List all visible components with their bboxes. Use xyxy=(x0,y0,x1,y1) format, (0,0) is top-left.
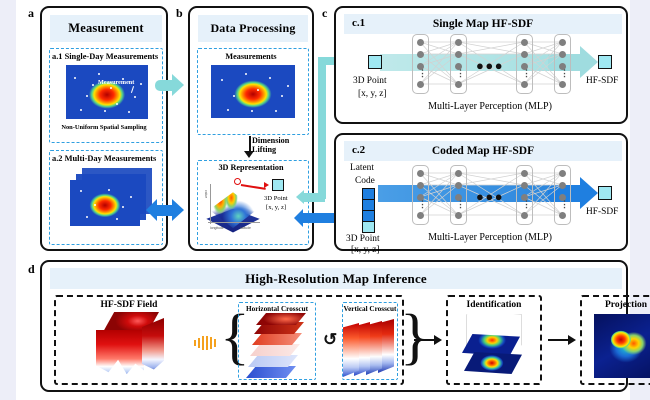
measurement-annotation: Measurement xyxy=(98,79,134,86)
measurements-heatmap xyxy=(211,65,295,118)
panel-b-measurements-caption: Measurements xyxy=(190,52,312,61)
c2-input-label-1: 3D Point xyxy=(346,234,380,244)
panel-letter-b: b xyxy=(176,6,183,21)
identification-caption: Identification xyxy=(446,300,542,310)
3d-point-label-1: 3D Point xyxy=(264,195,288,202)
panel-c2-tag: c.2 xyxy=(352,144,365,156)
c2-output-label: HF-SDF xyxy=(586,207,618,217)
c1-network-label: Multi-Layer Perception (MLP) xyxy=(400,101,580,112)
c2-input-label-2: [x, y, z] xyxy=(351,245,380,255)
dimension-lifting-label: Dimension Lifting xyxy=(252,136,312,154)
vertical-crosscut-caption: Vertical Crosscut xyxy=(338,305,402,313)
c1-input-label-2: [x, y, z] xyxy=(358,89,387,99)
panel-b-3d-caption: 3D Representation xyxy=(190,163,312,172)
swap-icon: ↺ xyxy=(323,330,337,350)
c2-latent-label-1: Latent xyxy=(350,163,374,173)
c1-output-label: HF-SDF xyxy=(586,76,618,86)
c2-input-square xyxy=(362,221,375,233)
c1-mlp: ⋮ ⋮ ⋮ ⋮ ●●● xyxy=(406,34,576,96)
hf-sdf-field-cube xyxy=(96,312,166,378)
c2-network-label: Multi-Layer Perception (MLP) xyxy=(400,232,580,243)
panel-a2-title: a.2 Multi-Day Measurements xyxy=(52,154,156,163)
resolution-comb-icon xyxy=(194,335,216,351)
panel-c1-tag: c.1 xyxy=(352,17,365,29)
c1-input-square xyxy=(368,55,382,69)
single-day-heatmap: Measurement xyxy=(66,65,148,119)
panel-a1-caption: Non-Uniform Spatial Sampling xyxy=(42,124,166,131)
panel-a1-title: a.1 Single-Day Measurements xyxy=(52,52,158,61)
panel-d: High-Resolution Map Inference HF-SDF Fie… xyxy=(40,260,628,392)
3d-point-square xyxy=(272,179,284,191)
horizontal-crosscut-stack xyxy=(246,316,308,374)
panel-d-title: High-Resolution Map Inference xyxy=(50,268,622,289)
vertical-crosscut-stack xyxy=(344,316,398,374)
panel-b-title: Data Processing xyxy=(198,15,308,42)
3d-point-label-2: [x, y, z] xyxy=(266,204,286,211)
c2-output-square xyxy=(598,186,612,200)
c1-input-label-1: 3D Point xyxy=(353,76,387,86)
panel-letter-d: d xyxy=(28,262,35,277)
projection-heatmap xyxy=(594,314,650,378)
identification-3d-sheets xyxy=(458,314,532,378)
c1-layer-dots: ●●● xyxy=(476,58,504,74)
c2-mlp: ⋮ ⋮ ⋮ ⋮ ●●● xyxy=(406,165,576,227)
right-brace-icon: } xyxy=(400,306,430,368)
panel-c2: c.2 Coded Map HF-SDF Latent Code 3D Poin… xyxy=(334,133,628,251)
c2-layer-dots: ●●● xyxy=(476,189,504,205)
panel-c1-title: Single Map HF-SDF xyxy=(344,16,622,32)
panel-c2-title: Coded Map HF-SDF xyxy=(344,143,622,159)
c1-output-square xyxy=(598,55,612,69)
c2-latent-label-2: Code xyxy=(355,176,375,186)
projection-caption: Projection xyxy=(580,300,650,310)
panel-letter-a: a xyxy=(28,6,34,21)
panel-letter-c: c xyxy=(322,6,327,21)
panel-c1: c.1 Single Map HF-SDF 3D Point [x, y, z] xyxy=(334,6,628,124)
horizontal-crosscut-caption: Horizontal Crosscut xyxy=(238,305,316,313)
hf-sdf-field-caption: HF-SDF Field xyxy=(70,300,188,310)
panel-a-title: Measurement xyxy=(50,15,162,42)
figure-root: a Measurement a.1 Single-Day Measurement… xyxy=(0,0,650,400)
